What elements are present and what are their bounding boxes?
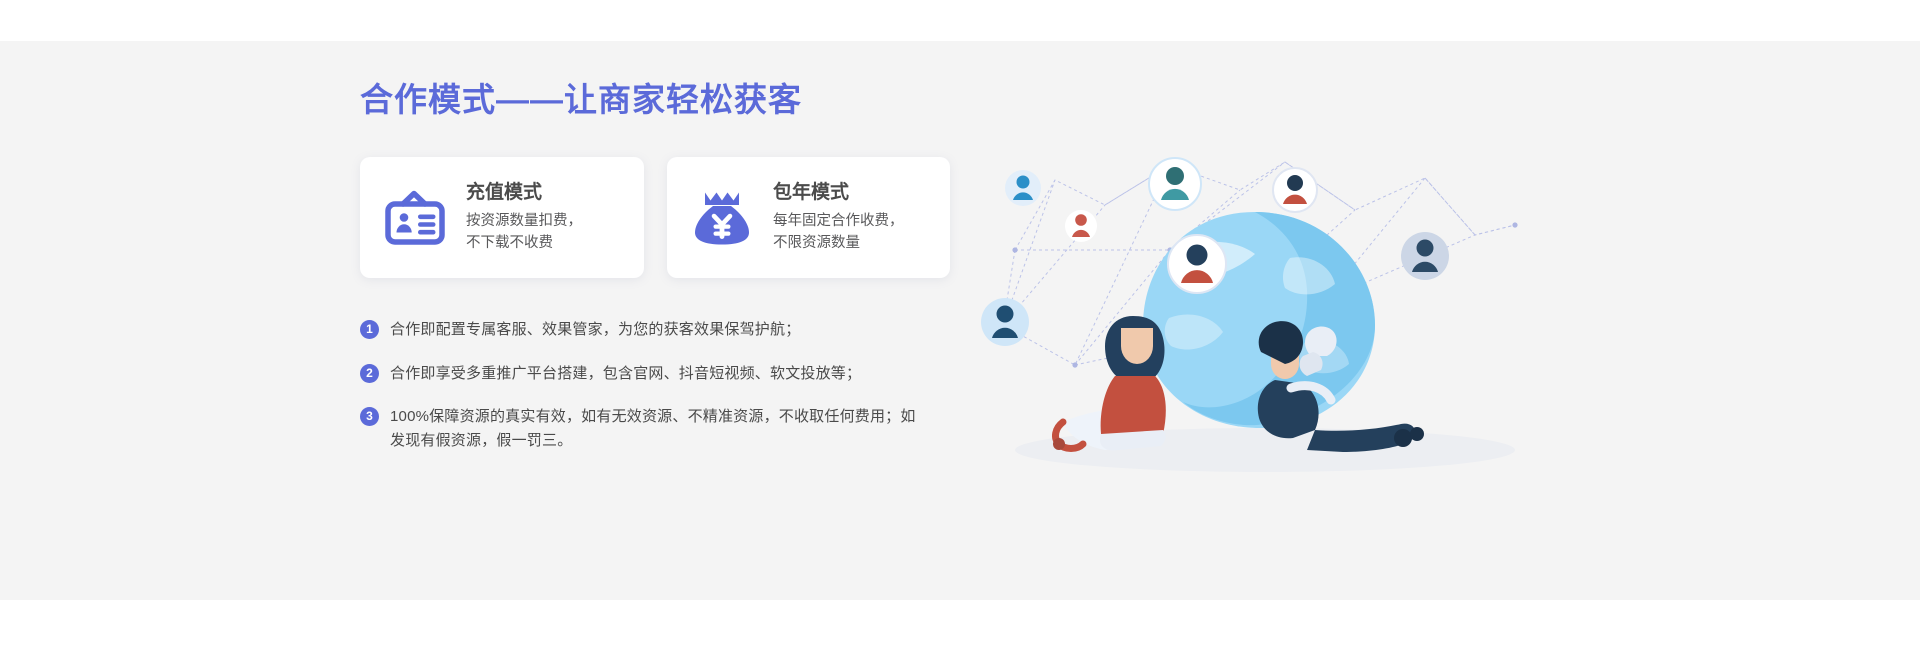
avatar bbox=[1005, 170, 1041, 206]
top-white-band bbox=[0, 0, 1920, 41]
mode-card-title: 充值模式 bbox=[466, 181, 622, 205]
list-item-number-badge: 2 bbox=[360, 364, 379, 383]
list-item-text: 100%保障资源的真实有效，如有无效资源、不精准资源，不收取任何费用；如发现有假… bbox=[390, 405, 920, 454]
page-title: 合作模式——让商家轻松获客 bbox=[360, 82, 980, 118]
list-item: 3 100%保障资源的真实有效，如有无效资源、不精准资源，不收取任何费用；如发现… bbox=[360, 405, 920, 454]
list-item-text: 合作即配置专属客服、效果管家，为您的获客效果保驾护航； bbox=[390, 318, 800, 342]
list-item: 2 合作即享受多重推广平台搭建，包含官网、抖音短视频、软文投放等； bbox=[360, 362, 920, 386]
list-item-number-badge: 1 bbox=[360, 320, 379, 339]
global-network-people-illustration bbox=[955, 150, 1575, 480]
avatar bbox=[1149, 158, 1201, 210]
page-root: 合作模式——让商家轻松获客 充值模式 按资 bbox=[0, 0, 1920, 648]
id-badge-icon bbox=[382, 185, 448, 251]
list-item: 1 合作即配置专属客服、效果管家，为您的获客效果保驾护航； bbox=[360, 318, 920, 342]
avatar bbox=[1168, 235, 1226, 293]
benefit-list: 1 合作即配置专属客服、效果管家，为您的获客效果保驾护航； 2 合作即享受多重推… bbox=[360, 318, 920, 453]
mode-card-list: 充值模式 按资源数量扣费， 不下载不收费 包年模式 bbox=[360, 157, 980, 278]
avatar bbox=[1401, 232, 1449, 280]
list-item-number-badge: 3 bbox=[360, 407, 379, 426]
mode-card-annual[interactable]: 包年模式 每年固定合作收费， 不限资源数量 bbox=[667, 157, 950, 278]
person-seated-woman bbox=[1053, 316, 1166, 450]
avatar bbox=[1273, 168, 1317, 212]
bottom-white-band bbox=[0, 600, 1920, 648]
money-bag-icon bbox=[689, 185, 755, 251]
list-item-text: 合作即享受多重推广平台搭建，包含官网、抖音短视频、软文投放等； bbox=[390, 362, 861, 386]
avatar bbox=[981, 298, 1029, 346]
mode-card-description: 按资源数量扣费， 不下载不收费 bbox=[466, 211, 622, 254]
mode-card-title: 包年模式 bbox=[773, 181, 928, 205]
avatar bbox=[1065, 210, 1097, 242]
mode-card-text: 包年模式 每年固定合作收费， 不限资源数量 bbox=[773, 181, 928, 254]
mode-card-recharge[interactable]: 充值模式 按资源数量扣费， 不下载不收费 bbox=[360, 157, 644, 278]
mode-card-text: 充值模式 按资源数量扣费， 不下载不收费 bbox=[466, 181, 622, 254]
mode-card-description: 每年固定合作收费， 不限资源数量 bbox=[773, 211, 928, 254]
left-content-column: 合作模式——让商家轻松获客 充值模式 按资 bbox=[360, 82, 980, 453]
